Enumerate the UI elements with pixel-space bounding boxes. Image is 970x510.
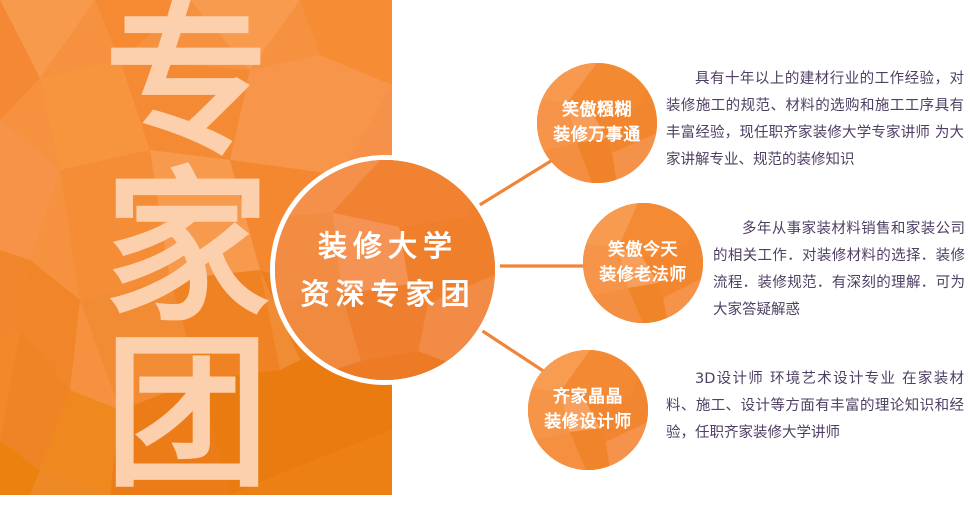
hub-title-line-1: 装修大学 bbox=[312, 222, 458, 270]
expert-1-name: 笑傲糨糊 bbox=[562, 98, 632, 123]
hub-circle[interactable]: 装修大学 资深专家团 bbox=[270, 155, 500, 385]
expert-1-description: 具有十年以上的建材行业的工作经验，对装修施工的规范、材料的选购和施工工序具有丰富… bbox=[666, 66, 964, 174]
expert-2-description: 多年从事家装材料销售和家装公司的相关工作．对装修材料的选择．装修流程．装修规范．… bbox=[713, 216, 965, 324]
expert-3-role: 装修设计师 bbox=[544, 410, 632, 435]
expert-circle-1[interactable]: 笑傲糨糊 装修万事通 bbox=[537, 63, 657, 183]
expert-3-description: 3D设计师 环境艺术设计专业 在家装材料、施工、设计等方面有丰富的理论知识和经验… bbox=[666, 366, 964, 447]
hub-title-line-2: 资深专家团 bbox=[294, 270, 475, 318]
expert-1-role: 装修万事通 bbox=[553, 123, 641, 148]
expert-circle-2[interactable]: 笑傲今天 装修老法师 bbox=[583, 203, 703, 323]
expert-circle-3[interactable]: 齐家晶晶 装修设计师 bbox=[528, 350, 648, 470]
expert-3-name: 齐家晶晶 bbox=[553, 385, 623, 410]
expert-2-name: 笑傲今天 bbox=[608, 238, 678, 263]
expert-2-role: 装修老法师 bbox=[599, 263, 687, 288]
expert-team-banner: 专 家 团 装修大学 资深专家团 bbox=[0, 0, 970, 510]
